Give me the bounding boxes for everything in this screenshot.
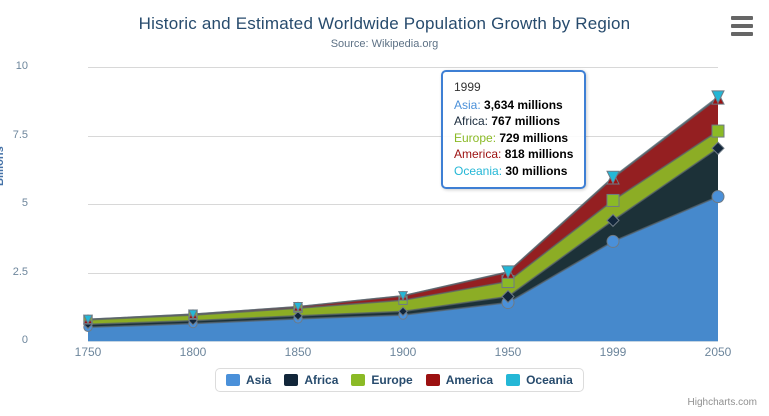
x-axis-tick-label: 1800	[180, 345, 207, 359]
legend-swatch-icon	[226, 374, 240, 386]
chart-legend: AsiaAfricaEuropeAmericaOceania	[215, 368, 584, 392]
legend-swatch-icon	[426, 374, 440, 386]
x-axis-tick-label: 1999	[600, 345, 627, 359]
highcharts-credit[interactable]: Highcharts.com	[688, 397, 757, 408]
x-axis-tick-label: 1900	[390, 345, 417, 359]
tooltip-row-africa: Africa: 767 millions	[454, 113, 573, 130]
y-axis-tick-label: 2.5	[0, 266, 28, 278]
menu-bar-2	[731, 24, 753, 28]
menu-bar-1	[731, 16, 753, 20]
marker-europe-1999[interactable]	[607, 194, 619, 206]
y-axis-tick-label: 10	[0, 60, 28, 72]
legend-swatch-icon	[351, 374, 365, 386]
highcharts-container: Historic and Estimated Worldwide Populat…	[0, 0, 769, 416]
chart-tooltip: 1999 Asia: 3,634 millionsAfrica: 767 mil…	[441, 70, 586, 189]
hamburger-menu-icon[interactable]	[729, 15, 755, 37]
x-axis-tick-label: 1950	[495, 345, 522, 359]
tooltip-row-europe: Europe: 729 millions	[454, 130, 573, 147]
tooltip-row-america: America: 818 millions	[454, 146, 573, 163]
legend-item-asia[interactable]: Asia	[226, 373, 271, 387]
legend-label: Oceania	[526, 373, 573, 387]
tooltip-header: 1999	[454, 79, 573, 97]
y-axis-tick-label: 7.5	[0, 129, 28, 141]
tooltip-series-name: Oceania:	[454, 164, 505, 178]
marker-asia-2050[interactable]	[712, 191, 724, 203]
x-axis-tick-label: 2050	[705, 345, 732, 359]
x-axis-tick-label: 1850	[285, 345, 312, 359]
y-gridline	[88, 341, 718, 342]
tooltip-rows: Asia: 3,634 millionsAfrica: 767 millions…	[454, 97, 573, 180]
tooltip-series-value: 729 millions	[499, 131, 568, 145]
tooltip-series-value: 767 millions	[491, 114, 560, 128]
legend-label: Europe	[371, 373, 412, 387]
tooltip-series-name: Asia:	[454, 98, 484, 112]
legend-label: Africa	[304, 373, 338, 387]
legend-item-oceania[interactable]: Oceania	[506, 373, 573, 387]
tooltip-series-name: Africa:	[454, 114, 491, 128]
tooltip-series-value: 30 millions	[505, 164, 567, 178]
tooltip-row-asia: Asia: 3,634 millions	[454, 97, 573, 114]
legend-item-europe[interactable]: Europe	[351, 373, 412, 387]
x-axis-tick-label: 1750	[75, 345, 102, 359]
legend-item-america[interactable]: America	[426, 373, 493, 387]
legend-swatch-icon	[506, 374, 520, 386]
menu-bar-3	[731, 32, 753, 36]
chart-subtitle: Source: Wikipedia.org	[0, 38, 769, 50]
marker-europe-2050[interactable]	[712, 125, 724, 137]
chart-title: Historic and Estimated Worldwide Populat…	[0, 14, 769, 34]
tooltip-row-oceania: Oceania: 30 millions	[454, 163, 573, 180]
y-axis-tick-label: 0	[0, 334, 28, 346]
tooltip-series-name: Europe:	[454, 131, 499, 145]
y-axis-tick-label: 5	[0, 197, 28, 209]
legend-label: America	[446, 373, 493, 387]
y-axis-title: Billions	[0, 146, 6, 186]
marker-asia-1999[interactable]	[607, 235, 619, 247]
legend-swatch-icon	[284, 374, 298, 386]
tooltip-series-value: 3,634 millions	[484, 98, 563, 112]
tooltip-series-value: 818 millions	[505, 147, 574, 161]
legend-label: Asia	[246, 373, 271, 387]
tooltip-series-name: America:	[454, 147, 505, 161]
series-layer	[88, 67, 718, 341]
legend-item-africa[interactable]: Africa	[284, 373, 338, 387]
